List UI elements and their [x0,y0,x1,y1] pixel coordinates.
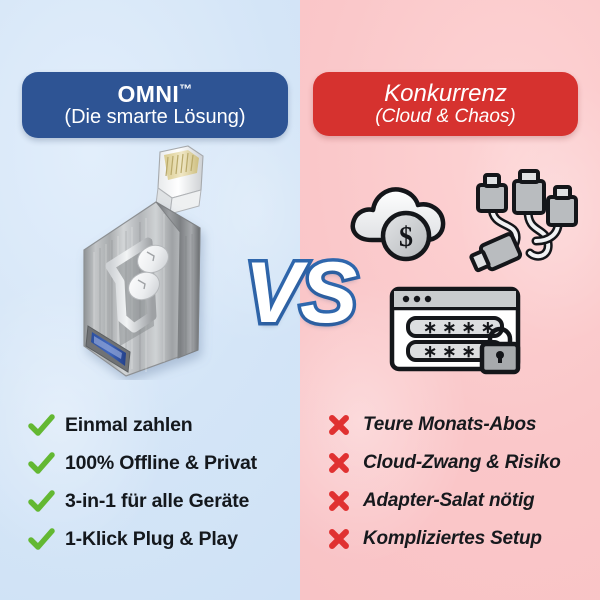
cross-icon [324,524,354,554]
vs-label: VS [236,243,364,343]
drawbacks-list: Teure Monats-Abos Cloud-Zwang & Risiko A… [324,406,596,558]
omni-badge-title-text: OMNI [117,81,179,107]
usb-drive-illustration [60,140,235,380]
product-image-usb-drive [60,140,235,380]
cross-icon [324,410,354,440]
cross-icon [324,448,354,478]
list-item: Kompliziertes Setup [324,520,596,558]
omni-badge-title: OMNI™ [117,82,192,106]
check-icon [26,448,56,478]
cross-icon [324,486,354,516]
password-field-1: ∗∗∗∗ [423,318,500,337]
list-item: Adapter-Salat nötig [324,482,596,520]
list-item: Cloud-Zwang & Risiko [324,444,596,482]
list-item-label: 1-Klick Plug & Play [65,528,238,551]
list-item: 1-Klick Plug & Play [26,520,294,558]
lightning-connector-icon [156,146,203,214]
list-item-label: Cloud-Zwang & Risiko [363,452,561,474]
dollar-symbol: $ [399,222,413,253]
list-item: 100% Offline & Privat [26,444,294,482]
check-icon [26,410,56,440]
list-item: 3-in-1 für alle Geräte [26,482,294,520]
benefits-list: Einmal zahlen 100% Offline & Privat 3-in… [26,406,294,558]
omni-badge-subtitle: (Die smarte Lösung) [64,107,245,128]
omni-header-badge: OMNI™ (Die smarte Lösung) [22,72,288,138]
check-icon [26,524,56,554]
tangled-cables-icon [462,167,580,275]
list-item-label: Kompliziertes Setup [363,528,542,550]
usb-drive-body [84,202,200,376]
list-item: Teure Monats-Abos [324,406,596,444]
competitor-badge-subtitle: (Cloud & Chaos) [375,107,515,127]
list-item-label: 3-in-1 für alle Geräte [65,490,249,513]
check-icon [26,486,56,516]
trademark-icon: ™ [179,81,192,96]
list-item-label: Teure Monats-Abos [363,414,536,436]
list-item-label: Einmal zahlen [65,414,192,437]
list-item-label: Adapter-Salat nötig [363,490,534,512]
list-item: Einmal zahlen [26,406,294,444]
comparison-graphic: OMNI™ (Die smarte Lösung) Konkurrenz (Cl… [0,0,600,600]
competitor-header-badge: Konkurrenz (Cloud & Chaos) [313,72,578,136]
password-window-icon: ∗∗∗∗ ∗∗∗∗ [386,284,538,376]
competitor-badge-title: Konkurrenz [384,81,507,106]
list-item-label: 100% Offline & Privat [65,452,257,475]
